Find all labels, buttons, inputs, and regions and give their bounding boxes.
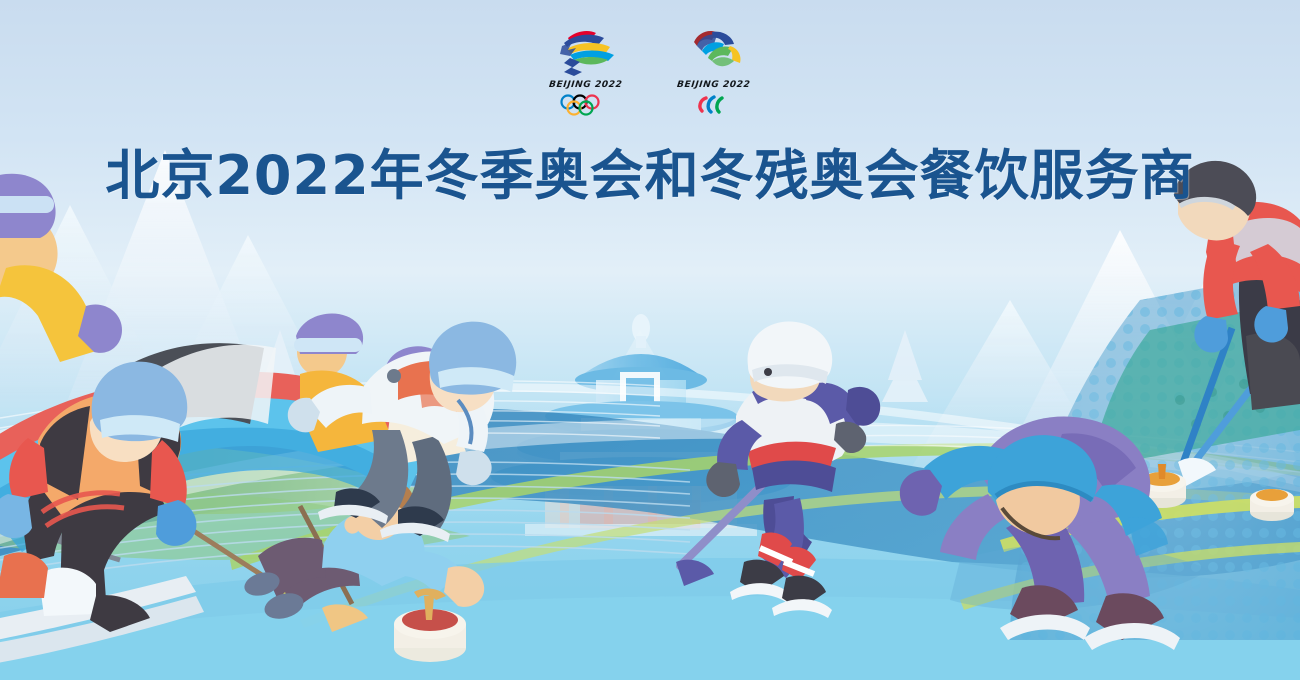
paralympic-emblem: BEIJING 2022 <box>671 28 757 116</box>
page-title: 北京2022年冬季奥会和冬残奥会餐饮服务商 <box>0 148 1300 205</box>
emblem-row: BEIJING 2022 BEIJIN <box>0 28 1300 116</box>
paralympic-emblem-mark <box>678 28 750 76</box>
paralympic-agitos-icon <box>686 94 742 116</box>
olympic-emblem-mark <box>550 28 622 76</box>
olympic-wordmark: BEIJING 2022 <box>549 80 623 90</box>
paralympic-wordmark: BEIJING 2022 <box>677 80 751 90</box>
olympic-emblem: BEIJING 2022 <box>543 28 629 116</box>
olympic-rings-icon <box>558 94 614 116</box>
beijing-2022-banner: BEIJING 2022 BEIJIN <box>0 0 1300 680</box>
